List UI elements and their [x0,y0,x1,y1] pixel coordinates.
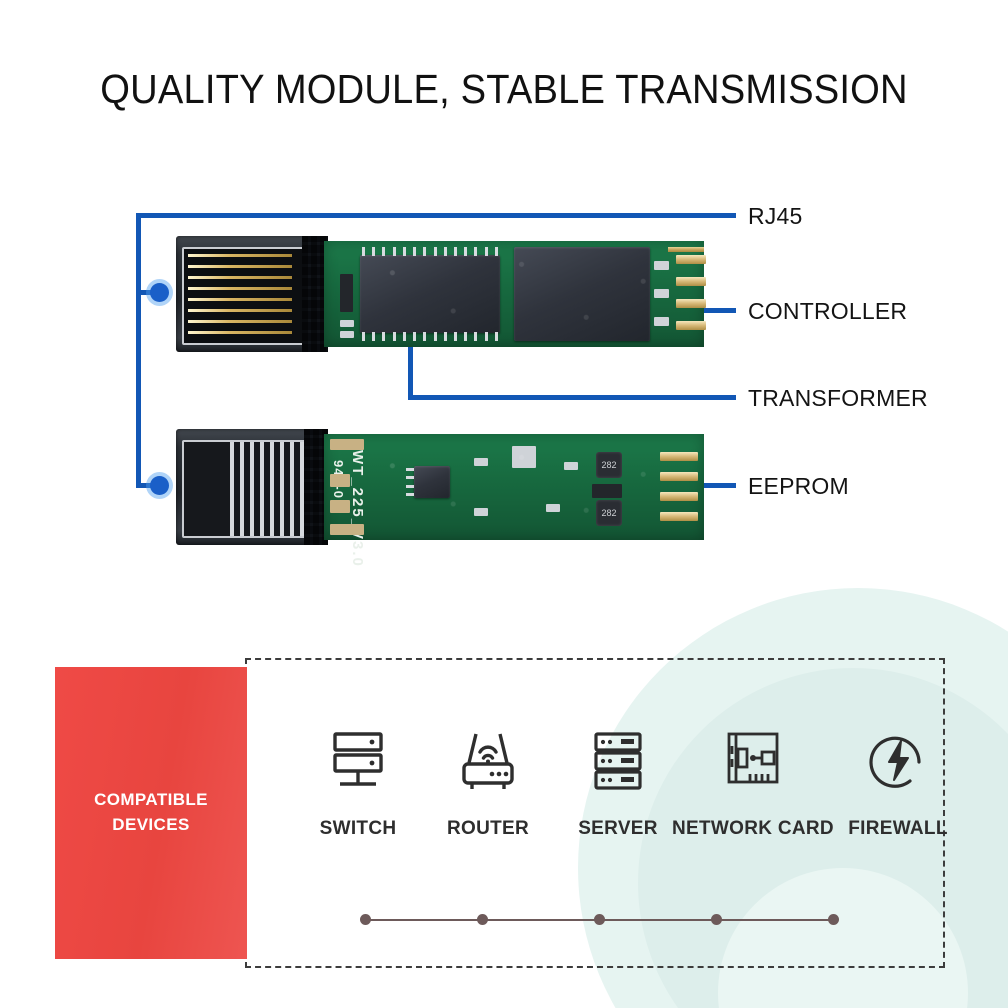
edge-pad-top [668,247,704,252]
switch-icon [283,720,433,804]
smd-white-block [512,446,536,468]
rj45-gold-pins-top [188,254,292,334]
callout-label-controller: CONTROLLER [748,298,907,325]
edge-finger-b2 [660,472,698,481]
infographic-page: QUALITY MODULE, STABLE TRANSMISSION RJ45… [0,0,1008,1008]
timeline-dot-1 [360,914,371,925]
device-firewall[interactable]: FIREWALL [823,720,973,840]
edge-finger-1 [676,255,706,264]
device-timeline [255,913,945,927]
network-card-icon [663,720,843,804]
controller-ic [514,247,650,341]
smd-res-b4 [564,462,578,470]
product-diagram: RJ45 CONTROLLER TRANSFORMER EEPROM [0,180,1008,600]
smd-res-1 [340,320,354,327]
callout-line-rj45 [136,213,736,218]
test-pad-2 [330,474,350,487]
smd-res-b1 [474,458,488,466]
callout-label-rj45: RJ45 [748,203,803,230]
compatible-devices-heading: COMPATIBLE DEVICES [94,788,208,837]
smd-res-4 [654,289,669,298]
device-label-firewall: FIREWALL [823,818,973,840]
heading-line-1: COMPATIBLE [94,790,208,809]
edge-finger-2 [676,277,706,286]
device-label-network-card: NETWORK CARD [663,818,843,840]
device-label-router: ROUTER [413,818,563,840]
device-icon-row: SWITCH [255,720,945,870]
router-icon [413,720,563,804]
device-router[interactable]: ROUTER [413,720,563,840]
device-switch[interactable]: SWITCH [283,720,433,840]
callout-label-eeprom: EEPROM [748,473,849,500]
firewall-icon [823,720,973,804]
callout-label-transformer: TRANSFORMER [748,385,928,412]
page-title: QUALITY MODULE, STABLE TRANSMISSION [35,66,972,113]
test-pad-1 [330,439,364,450]
transformer-legs-bottom [362,332,498,341]
eeprom-ic [414,466,450,498]
smd-res-b2 [474,508,488,516]
pcb-bottom: WT_225_V3.0 94V-0 282 282 [324,434,704,540]
smd-res-2 [340,331,354,338]
smd-res-b3 [546,504,560,512]
callout-line-transformer [408,395,736,400]
inductor-1: 282 [596,452,622,478]
smd-res-5 [654,317,669,326]
module-bottom: WT_225_V3.0 94V-0 282 282 [176,426,724,550]
edge-finger-b4 [660,512,698,521]
heading-line-2: DEVICES [112,815,189,834]
transformer-ic [360,255,500,333]
test-pad-3 [330,500,350,513]
smd-cap-1 [340,274,353,312]
callout-dot-rj45-bottom[interactable] [150,476,169,495]
timeline-dot-5 [828,914,839,925]
rj45-connector-bottom [176,429,328,545]
silkscreen-part-number: WT_225_V3.0 [349,450,366,568]
pcb-top [324,241,704,347]
timeline-dot-4 [711,914,722,925]
callout-dot-rj45-top[interactable] [150,283,169,302]
callout-line-spine [136,213,141,488]
edge-finger-3 [676,299,706,308]
device-label-switch: SWITCH [283,818,433,840]
rj45-connector-top [176,236,328,352]
timeline-dot-2 [477,914,488,925]
edge-finger-b1 [660,452,698,461]
rj45-bay-bottom [182,440,318,538]
timeline-dot-3 [594,914,605,925]
module-top [176,233,724,357]
inductor-2: 282 [596,500,622,526]
transformer-legs-top [362,247,498,256]
smd-res-3 [654,261,669,270]
edge-finger-b3 [660,492,698,501]
eeprom-legs-left [406,468,414,496]
smd-chip-dark [592,484,622,498]
silkscreen-flame-rating: 94V-0 [331,460,346,499]
compatible-devices-panel: COMPATIBLE DEVICES SWITCH [55,658,945,968]
test-pad-4 [330,524,364,535]
device-network-card[interactable]: NETWORK CARD [663,720,843,840]
compatible-devices-block: COMPATIBLE DEVICES [55,667,247,959]
edge-finger-4 [676,321,706,330]
